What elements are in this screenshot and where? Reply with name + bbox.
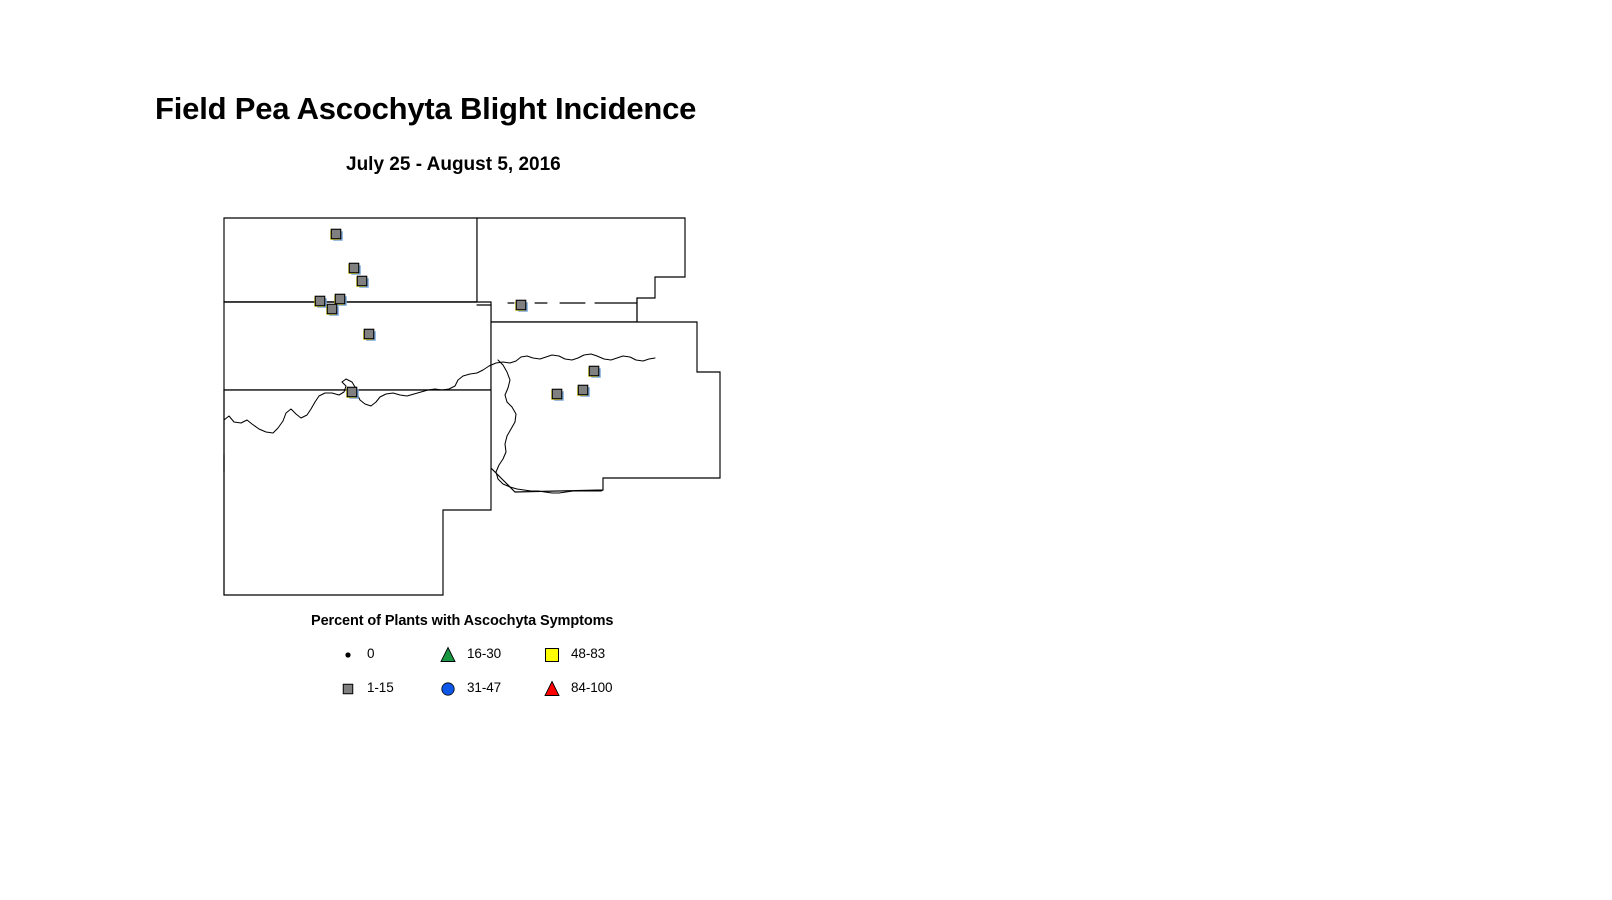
legend-swatch-circle-icon — [435, 676, 461, 702]
map-boundaries — [224, 218, 720, 595]
legend-row: 1-15 31-47 84-100 — [311, 676, 731, 702]
map-data-point — [551, 389, 564, 401]
legend-item-3: 31-47 — [435, 676, 555, 702]
map-data-point — [515, 300, 528, 312]
legend-item-4: 48-83 — [539, 642, 669, 668]
legend-swatch-square-icon — [539, 642, 565, 668]
legend-item-label: 16-30 — [467, 646, 501, 661]
map-data-point — [363, 329, 376, 341]
map-legend: Percent of Plants with Ascochyta Symptom… — [311, 613, 731, 708]
legend-swatch-dot-icon — [335, 642, 361, 668]
region-eastcentral — [491, 322, 720, 492]
page-title: Field Pea Ascochyta Blight Incidence — [155, 92, 696, 126]
legend-item-0: 0 — [335, 642, 445, 668]
legend-item-5: 84-100 — [539, 676, 669, 702]
legend-swatch-square-icon — [335, 676, 361, 702]
map-data-point — [356, 276, 369, 288]
map-data-point — [314, 296, 327, 308]
map-page: Field Pea Ascochyta Blight Incidence Jul… — [0, 0, 1612, 900]
legend-title: Percent of Plants with Ascochyta Symptom… — [311, 613, 613, 629]
map-data-point — [330, 229, 343, 241]
region-southwest — [224, 390, 491, 595]
legend-item-label: 1-15 — [367, 680, 394, 695]
map-data-point — [577, 385, 590, 397]
region-northeast — [477, 218, 685, 322]
legend-item-label: 48-83 — [571, 646, 605, 661]
legend-item-label: 31-47 — [467, 680, 501, 695]
map-graphic — [215, 210, 735, 610]
legend-item-label: 84-100 — [571, 680, 612, 695]
map-data-point — [588, 366, 601, 378]
legend-item-label: 0 — [367, 646, 374, 661]
page-subtitle: July 25 - August 5, 2016 — [346, 155, 561, 176]
legend-swatch-triangle-icon — [435, 642, 461, 668]
map-figure — [215, 210, 735, 610]
map-data-point — [348, 263, 361, 275]
region-northwest — [224, 218, 477, 302]
legend-swatch-triangle-icon — [539, 676, 565, 702]
legend-row: 0 16-30 48-83 — [311, 642, 731, 668]
map-data-point — [346, 387, 359, 399]
region-westcentral — [224, 302, 491, 390]
map-data-point — [326, 304, 339, 316]
legend-item-1: 1-15 — [335, 676, 445, 702]
legend-item-2: 16-30 — [435, 642, 555, 668]
